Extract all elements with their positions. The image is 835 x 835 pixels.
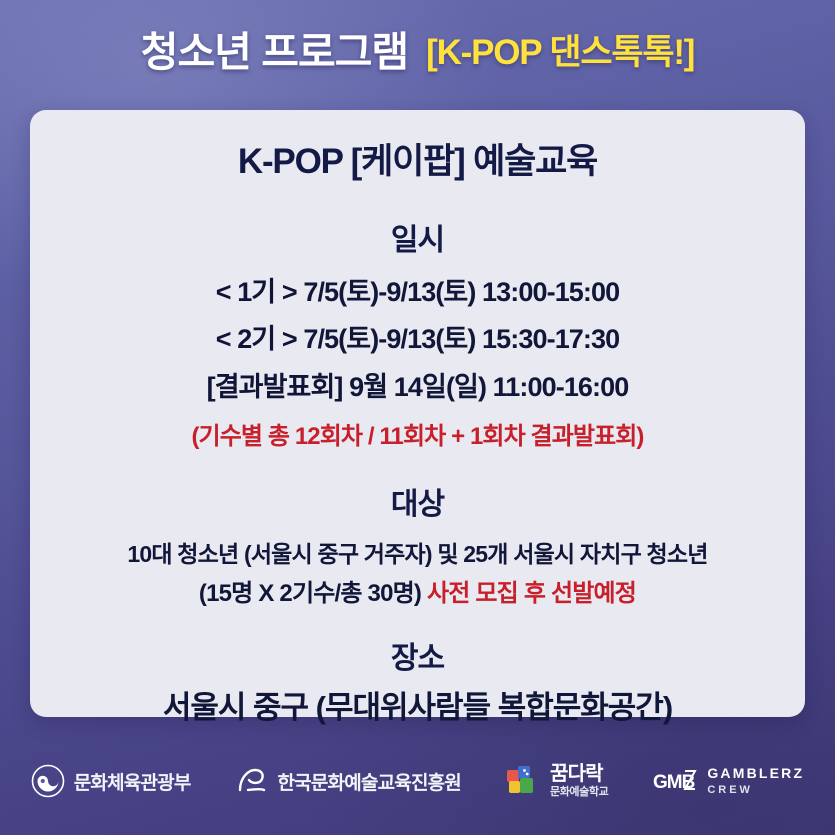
logo-kkumdarak-label: 꿈다락 (550, 764, 603, 785)
gamblerz-monogram-icon: GMB (652, 767, 698, 795)
target-selection-note: 사전 모집 후 선발예정 (427, 580, 636, 607)
logo-kkumdarak-sublabel: 문화예술학교 (550, 787, 608, 799)
schedule-row-3: [결과발표회] 9월 14일(일) 11:00-16:00 (54, 368, 781, 407)
header-subtitle: [K-POP 댄스톡톡!] (426, 35, 694, 70)
target-count: (15명 X 2기수/총 30명) (199, 580, 421, 607)
section-heading-schedule: 일시 (54, 224, 781, 257)
info-card-content: K-POP [케이팝] 예술교육 일시 < 1기 > 7/5(토)-9/13(토… (30, 110, 805, 717)
poster-header: 청소년 프로그램 [K-POP 댄스톡톡!] (0, 0, 835, 104)
schedule-row-3-text: 9월 14일(일) 11:00-16:00 (349, 372, 628, 402)
section-heading-target: 대상 (54, 488, 781, 521)
target-line-2: (15명 X 2기수/총 30명) 사전 모집 후 선발예정 (54, 578, 781, 610)
logo-gamblerz-label: GAMBLERZ (707, 766, 804, 781)
logo-arte: 한국문화예술교육진흥원 (235, 764, 461, 798)
taegeuk-emblem-icon (31, 764, 65, 798)
logo-gamblerz-sublabel: CREW (707, 784, 753, 796)
poster: 청소년 프로그램 [K-POP 댄스톡톡!] K-POP [케이팝] 예술교육 … (0, 0, 835, 835)
schedule-row-1: < 1기 > 7/5(토)-9/13(토) 13:00-15:00 (54, 273, 781, 312)
target-line-1: 10대 청소년 (서울시 중구 거주자) 및 25개 서울시 자치구 청소년 (54, 539, 781, 570)
info-card: K-POP [케이팝] 예술교육 일시 < 1기 > 7/5(토)-9/13(토… (30, 110, 805, 717)
logo-kkumdarak: 꿈다락 문화예술학교 (505, 764, 608, 799)
footer-logos: 문화체육관광부 한국문화예술교육진흥원 (0, 717, 835, 835)
schedule-row-2: < 2기 > 7/5(토)-9/13(토) 15:30-17:30 (54, 320, 781, 359)
logo-arte-label: 한국문화예술교육진흥원 (278, 768, 461, 795)
program-title: K-POP [케이팝] 예술교육 (54, 142, 781, 182)
schedule-note: (기수별 총 12회차 / 11회차 + 1회차 결과발표회) (54, 421, 781, 452)
section-heading-place: 장소 (54, 642, 781, 675)
schedule-row-1-text: 7/5(토)-9/13(토) 13:00-15:00 (303, 277, 619, 307)
logo-mcst: 문화체육관광부 (31, 764, 191, 798)
schedule-row-2-tag: < 2기 > (216, 324, 297, 354)
schedule-row-1-tag: < 1기 > (216, 277, 297, 307)
header-title: 청소년 프로그램 (141, 32, 408, 73)
logo-mcst-label: 문화체육관광부 (74, 768, 191, 795)
schedule-row-3-tag: [결과발표회] (207, 372, 343, 402)
arte-symbol-icon (235, 764, 269, 798)
logo-gamblerz-text: GAMBLERZ CREW (707, 766, 804, 796)
kkumdarak-blocks-icon (505, 764, 541, 798)
logo-gamblerz: GMB GAMBLERZ CREW (652, 766, 804, 796)
schedule-row-2-text: 7/5(토)-9/13(토) 15:30-17:30 (303, 324, 619, 354)
logo-kkumdarak-text: 꿈다락 문화예술학교 (550, 764, 608, 799)
